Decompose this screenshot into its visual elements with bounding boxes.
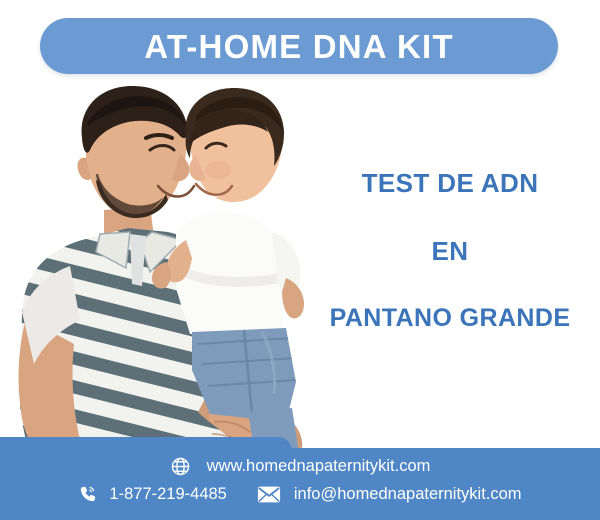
promo-poster: AT-HOME DNA KIT xyxy=(0,0,600,520)
phone-item[interactable]: 1-877-219-4485 xyxy=(78,484,226,504)
footer-contact-info: www.homednapaternitykit.com 1-877-219-44… xyxy=(0,448,600,520)
envelope-icon xyxy=(257,485,281,504)
website-text: www.homednapaternitykit.com xyxy=(207,458,431,475)
headline-line-1: TEST DE ADN xyxy=(300,170,600,196)
headline-line-2: EN xyxy=(300,238,600,264)
phone-icon xyxy=(78,484,98,504)
father-holding-toddler-photo xyxy=(0,82,320,460)
footer-row-website: www.homednapaternitykit.com xyxy=(0,456,600,477)
header-banner-pill: AT-HOME DNA KIT xyxy=(40,18,558,74)
globe-icon xyxy=(170,456,191,477)
footer-row-phone-email: 1-877-219-4485 info@homednapaternitykit.… xyxy=(0,484,600,504)
headline-line-3: PANTANO GRANDE xyxy=(300,306,600,331)
headline-block: TEST DE ADN EN PANTANO GRANDE xyxy=(300,150,600,331)
email-item[interactable]: info@homednapaternitykit.com xyxy=(257,485,522,504)
photo-illustration xyxy=(0,82,320,460)
page-title: AT-HOME DNA KIT xyxy=(144,30,453,63)
website-item[interactable]: www.homednapaternitykit.com xyxy=(170,456,431,477)
email-text: info@homednapaternitykit.com xyxy=(294,486,522,503)
phone-text: 1-877-219-4485 xyxy=(109,486,226,503)
